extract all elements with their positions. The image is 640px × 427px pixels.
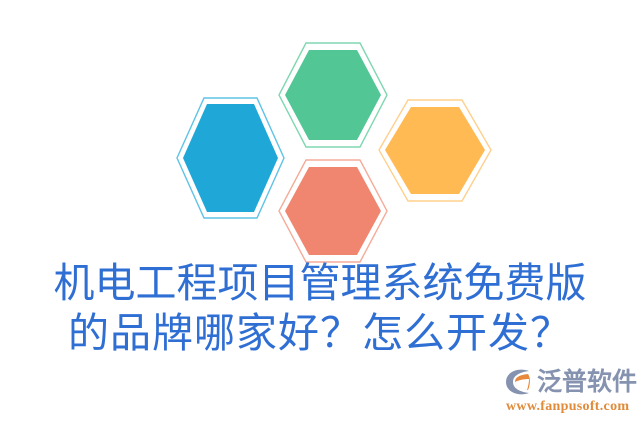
headline-line-2: 的品牌哪家好？怎么开发？ bbox=[0, 308, 640, 358]
hexagon-blue-fill bbox=[183, 104, 278, 212]
headline-text: 机电工程项目管理系统免费版 的品牌哪家好？怎么开发？ bbox=[0, 258, 640, 358]
hexagon-orange-fill bbox=[385, 107, 485, 194]
headline-line-1: 机电工程项目管理系统免费版 bbox=[0, 258, 640, 308]
watermark-logo: 泛普软件 www.fanpusoft.com bbox=[505, 366, 637, 422]
brand-name: 泛普软件 bbox=[537, 368, 637, 396]
hexagon-green bbox=[279, 43, 387, 147]
hexagon-salmon-fill bbox=[285, 167, 381, 255]
hexagon-blue bbox=[177, 98, 284, 218]
hexagon-green-fill bbox=[285, 50, 381, 140]
brand-url: www.fanpusoft.com bbox=[506, 399, 637, 415]
hexagon-orange bbox=[379, 100, 491, 201]
logo-row: 泛普软件 bbox=[505, 366, 637, 398]
hexagon-salmon bbox=[279, 160, 387, 262]
hexagon-cluster-graphic bbox=[0, 0, 640, 270]
promo-banner: 机电工程项目管理系统免费版 的品牌哪家好？怎么开发？ 泛普软件 www.fanp… bbox=[0, 0, 640, 427]
fanpu-logo-icon bbox=[505, 368, 535, 396]
